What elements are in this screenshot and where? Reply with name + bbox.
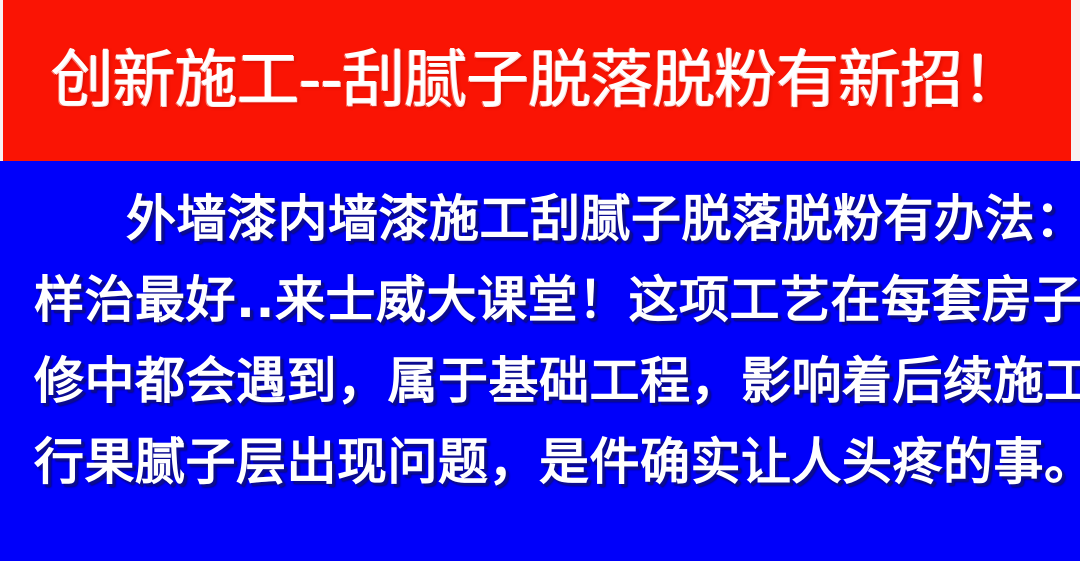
body-line-1: 外墙漆内墙漆施工刮腻子脱落脱粉有办法：就这 (34, 179, 1046, 260)
body-text-block: 外墙漆内墙漆施工刮腻子脱落脱粉有办法：就这 样治最好..来士威大课堂！这项工艺在… (0, 161, 1080, 561)
banner-left-edge-sliver (0, 0, 3, 161)
poster-title: 创新施工--刮腻子脱落脱粉有新招！ (50, 48, 1023, 111)
body-line-3: 修中都会遇到，属于基础工程，影响着后续施工的进 (34, 341, 1046, 422)
title-banner: 创新施工--刮腻子脱落脱粉有新招！ (3, 0, 1071, 161)
body-line-4: 行果腻子层出现问题，是件确实让人头疼的事。 (34, 422, 1046, 503)
banner-right-edge-sliver (1071, 0, 1080, 161)
promotional-poster: 创新施工--刮腻子脱落脱粉有新招！ 外墙漆内墙漆施工刮腻子脱落脱粉有办法：就这 … (0, 0, 1080, 561)
body-line-2: 样治最好..来士威大课堂！这项工艺在每套房子的装 (34, 260, 1046, 341)
